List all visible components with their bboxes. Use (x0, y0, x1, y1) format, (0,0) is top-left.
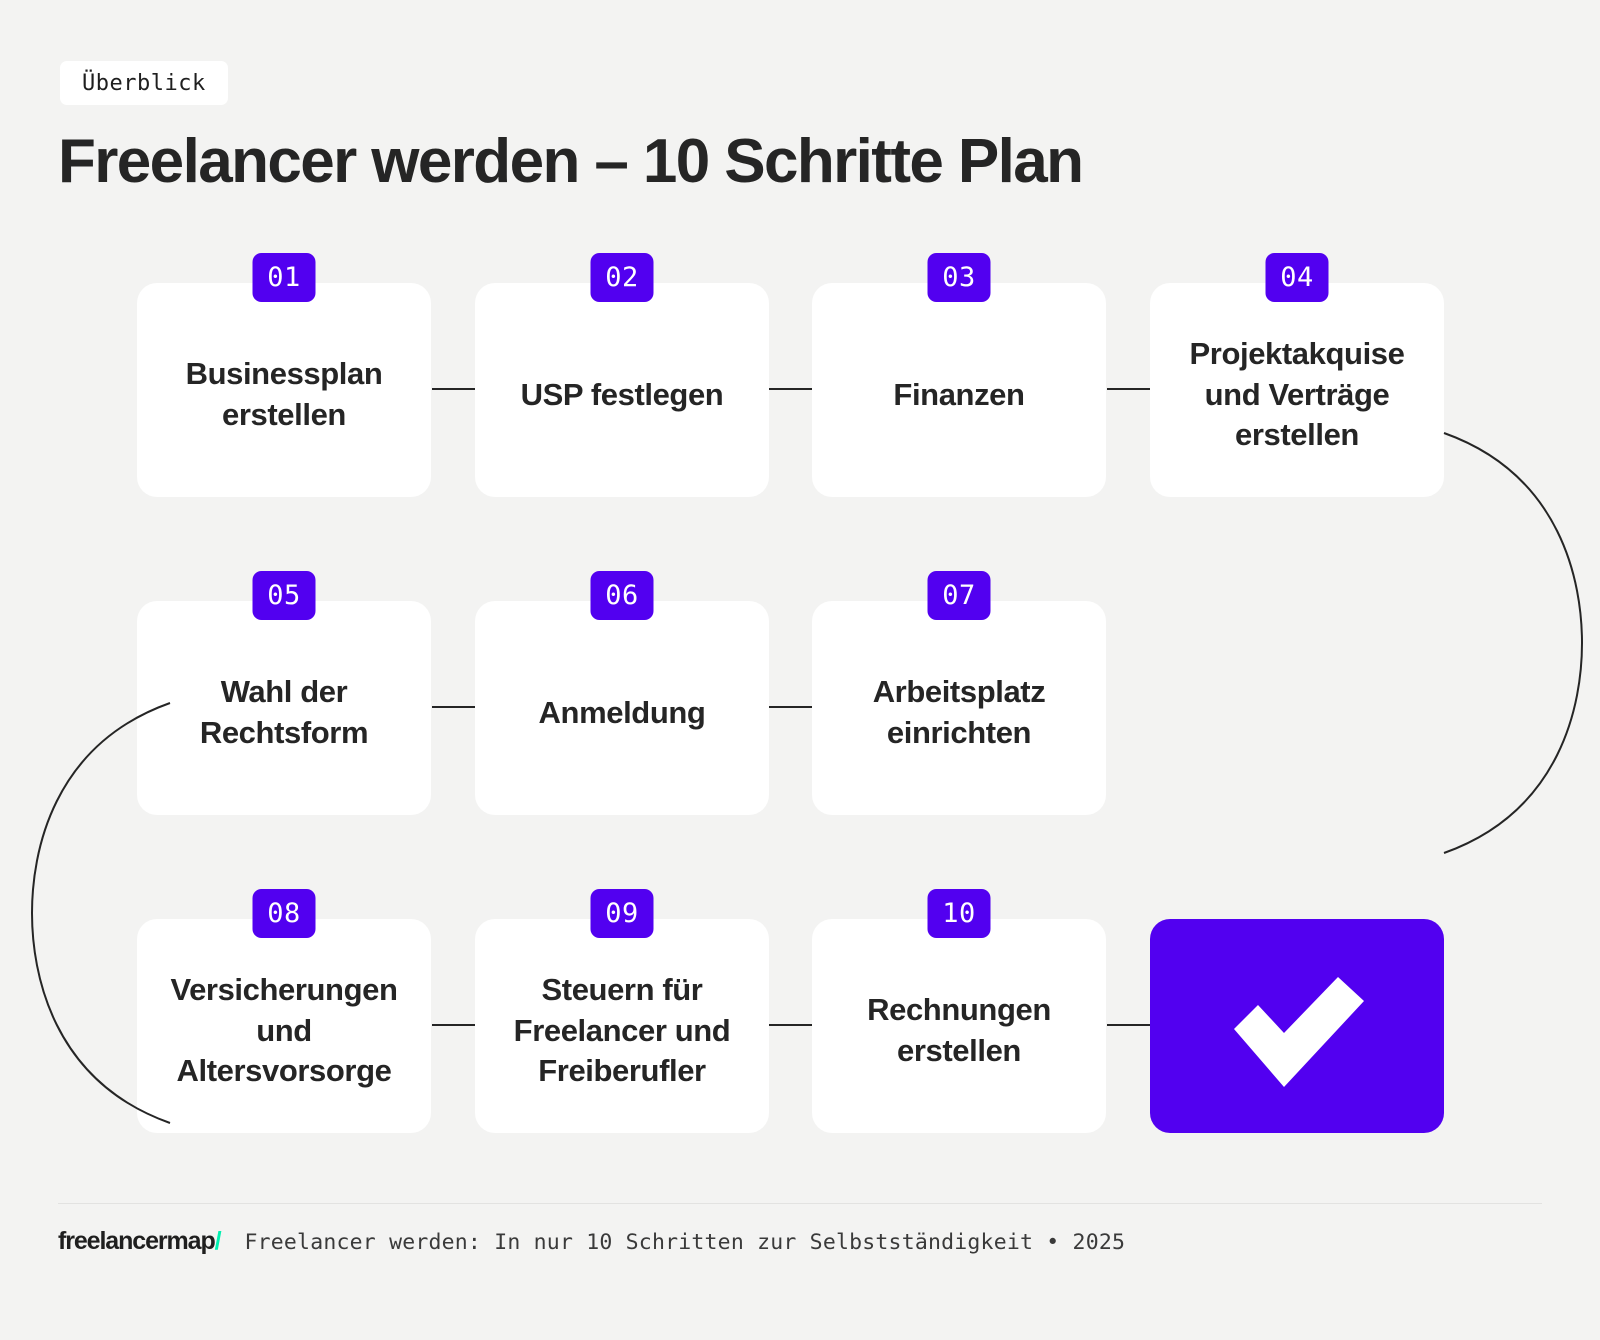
step-label-03: Finanzen (893, 375, 1024, 416)
connector-10-done (1107, 1024, 1151, 1026)
logo-text: freelancermap (58, 1227, 215, 1255)
step-number-06: 06 (605, 580, 639, 611)
step-number-badge-02: 02 (591, 253, 654, 302)
overview-badge: Überblick (60, 61, 228, 105)
step-number-08: 08 (267, 898, 301, 929)
step-card-04[interactable]: 04 Projektakquise und Verträge erstellen (1150, 283, 1444, 497)
completion-card[interactable] (1150, 919, 1444, 1133)
step-number-badge-07: 07 (928, 571, 991, 620)
steps-grid: 01 Businessplan erstellen 02 USP festleg… (137, 283, 1444, 1133)
connector-08-09 (432, 1024, 476, 1026)
step-card-06[interactable]: 06 Anmeldung (475, 601, 769, 815)
step-label-05: Wahl der Rechtsform (155, 672, 413, 753)
step-number-04: 04 (1280, 262, 1314, 293)
connector-09-10 (769, 1024, 813, 1026)
step-label-06: Anmeldung (539, 693, 706, 734)
step-number-03: 03 (942, 262, 976, 293)
step-number-badge-08: 08 (253, 889, 316, 938)
step-number-badge-05: 05 (253, 571, 316, 620)
infographic-page: Überblick Freelancer werden – 10 Schritt… (0, 0, 1600, 1340)
step-label-02: USP festlegen (521, 375, 724, 416)
overview-badge-label: Überblick (82, 71, 206, 96)
connector-03-04 (1107, 388, 1151, 390)
footer-divider (58, 1203, 1542, 1204)
step-number-10: 10 (942, 898, 976, 929)
step-number-badge-01: 01 (253, 253, 316, 302)
step-number-badge-04: 04 (1266, 253, 1329, 302)
step-label-04: Projektakquise und Verträge erstellen (1168, 334, 1426, 456)
step-card-10[interactable]: 10 Rechnungen erstellen (812, 919, 1106, 1133)
step-label-09: Steuern für Freelancer und Freiberufler (493, 970, 751, 1092)
step-number-badge-06: 06 (591, 571, 654, 620)
steps-row-1: 01 Businessplan erstellen 02 USP festleg… (137, 283, 1444, 497)
step-label-08: Versicherungen und Altersvorsorge (155, 970, 413, 1092)
step-card-08[interactable]: 08 Versicherungen und Altersvorsorge (137, 919, 431, 1133)
step-number-01: 01 (267, 262, 301, 293)
step-card-01[interactable]: 01 Businessplan erstellen (137, 283, 431, 497)
step-card-05[interactable]: 05 Wahl der Rechtsform (137, 601, 431, 815)
step-number-badge-10: 10 (928, 889, 991, 938)
steps-row-2: 05 Wahl der Rechtsform 06 Anmeldung 07 A… (137, 601, 1444, 815)
connector-02-03 (769, 388, 813, 390)
step-label-10: Rechnungen erstellen (830, 990, 1088, 1071)
step-number-badge-03: 03 (928, 253, 991, 302)
connector-05-06 (432, 706, 476, 708)
checkmark-icon (1222, 971, 1372, 1091)
connector-01-02 (432, 388, 476, 390)
freelancermap-logo[interactable]: freelancermap/ (58, 1227, 220, 1256)
step-card-07[interactable]: 07 Arbeitsplatz einrichten (812, 601, 1106, 815)
step-card-03[interactable]: 03 Finanzen (812, 283, 1106, 497)
step-number-badge-09: 09 (591, 889, 654, 938)
step-card-09[interactable]: 09 Steuern für Freelancer und Freiberufl… (475, 919, 769, 1133)
page-title: Freelancer werden – 10 Schritte Plan (58, 126, 1082, 197)
step-label-01: Businessplan erstellen (155, 354, 413, 435)
step-number-05: 05 (267, 580, 301, 611)
footer: freelancermap/ Freelancer werden: In nur… (58, 1227, 1125, 1256)
footer-caption: Freelancer werden: In nur 10 Schritten z… (244, 1230, 1125, 1255)
steps-row-3: 08 Versicherungen und Altersvorsorge 09 … (137, 919, 1444, 1133)
step-number-07: 07 (942, 580, 976, 611)
step-number-09: 09 (605, 898, 639, 929)
step-card-02[interactable]: 02 USP festlegen (475, 283, 769, 497)
step-number-02: 02 (605, 262, 639, 293)
connector-06-07 (769, 706, 813, 708)
logo-slash: / (215, 1227, 221, 1255)
step-label-07: Arbeitsplatz einrichten (830, 672, 1088, 753)
